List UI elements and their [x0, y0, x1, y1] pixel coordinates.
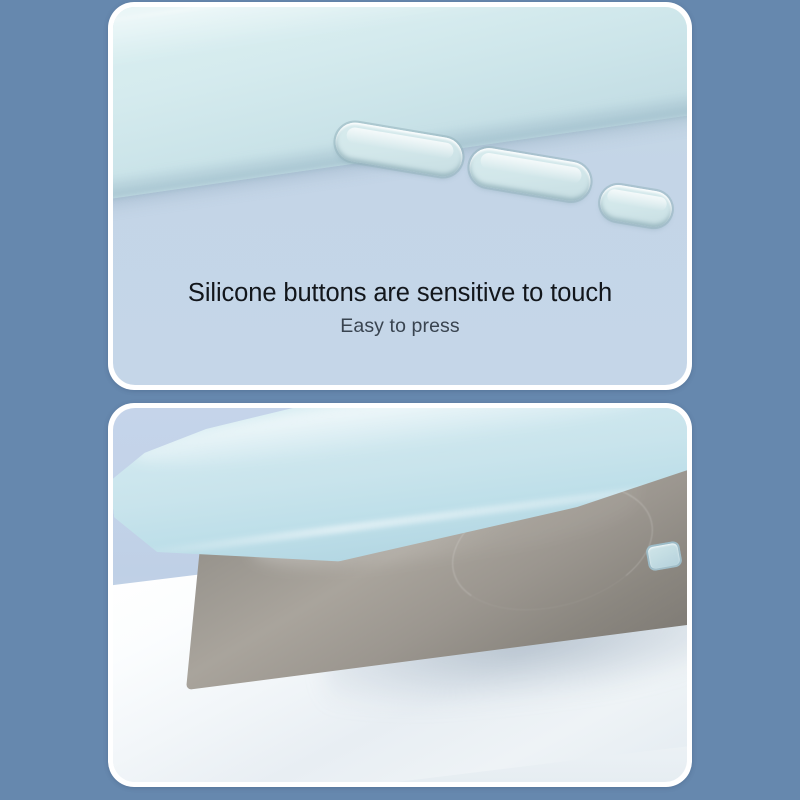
panel-2-inner: Precise holes for dust prevention 1:1 re…	[113, 408, 687, 782]
volume-down-button	[467, 145, 594, 204]
feature-panel-precise-holes: Precise holes for dust prevention 1:1 re…	[108, 403, 692, 787]
phone-case-body	[113, 7, 687, 207]
power-button	[598, 182, 675, 229]
product-feature-image: Silicone buttons are sensitive to touch …	[0, 0, 800, 800]
caption-subtitle-1: Easy to press	[113, 315, 687, 337]
feature-panel-silicone-buttons: Silicone buttons are sensitive to touch …	[108, 2, 692, 390]
panel-1-inner: Silicone buttons are sensitive to touch …	[113, 7, 687, 385]
case-highlight	[129, 408, 682, 482]
caption-block-1: Silicone buttons are sensitive to touch …	[113, 279, 687, 338]
case-highlight	[113, 7, 687, 76]
caption-title-1: Silicone buttons are sensitive to touch	[113, 279, 687, 308]
